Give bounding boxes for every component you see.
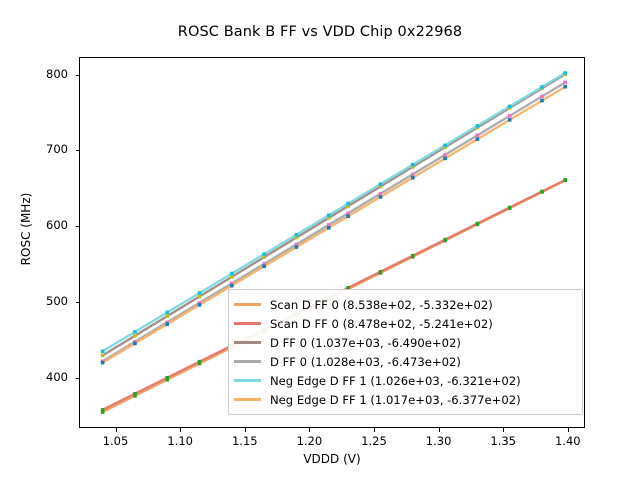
y-axis-label: ROSC (MHz) (19, 129, 33, 329)
data-point (101, 408, 105, 412)
x-tick-mark (116, 428, 117, 432)
x-tick-mark (309, 428, 310, 432)
data-point (230, 272, 234, 276)
legend-color-swatch (234, 360, 261, 362)
data-point (443, 238, 447, 242)
data-point (443, 143, 447, 147)
legend-item[interactable]: Scan D FF 0 (8.538e+02, -5.332e+02) (234, 295, 576, 314)
y-tick-label: 500 (0, 294, 68, 308)
data-point (443, 157, 447, 161)
data-point (508, 206, 512, 210)
data-point (411, 163, 415, 167)
data-point (443, 153, 447, 157)
data-point (508, 114, 512, 118)
data-point (262, 264, 266, 268)
data-point (101, 361, 105, 365)
data-point (476, 134, 480, 138)
data-point (411, 176, 415, 180)
legend-item[interactable]: Neg Edge D FF 1 (1.026e+03, -6.321e+02) (234, 371, 576, 390)
y-tick-label: 700 (0, 142, 68, 156)
data-point (508, 118, 512, 122)
legend-label: D FF 0 (1.037e+03, -6.490e+02) (270, 336, 461, 350)
legend-item[interactable]: Scan D FF 0 (8.478e+02, -5.241e+02) (234, 314, 576, 333)
x-tick-label: 1.35 (473, 434, 533, 448)
data-point (295, 245, 299, 249)
x-tick-mark (503, 428, 504, 432)
legend-item[interactable]: D FF 0 (1.028e+03, -6.473e+02) (234, 352, 576, 371)
data-point (165, 376, 169, 380)
data-point (101, 350, 105, 354)
x-tick-mark (568, 428, 569, 432)
data-point (133, 334, 137, 338)
legend-label: Scan D FF 0 (8.538e+02, -5.332e+02) (270, 298, 493, 312)
data-point (327, 213, 331, 217)
y-tick-mark (76, 226, 80, 227)
data-point (198, 360, 202, 364)
data-point (379, 270, 383, 274)
data-point (346, 202, 350, 206)
data-point (165, 322, 169, 326)
data-point (563, 71, 567, 75)
chart-figure: ROSC Bank B FF vs VDD Chip 0x22968 1.051… (0, 0, 640, 480)
data-point (101, 354, 105, 358)
data-point (198, 291, 202, 295)
legend-label: Neg Edge D FF 1 (1.026e+03, -6.321e+02) (270, 374, 521, 388)
data-point (346, 214, 350, 218)
x-tick-mark (180, 428, 181, 432)
y-tick-mark (76, 302, 80, 303)
data-point (540, 85, 544, 89)
chart-legend: Scan D FF 0 (8.538e+02, -5.332e+02)Scan … (228, 289, 583, 415)
x-tick-mark (245, 428, 246, 432)
data-point (165, 314, 169, 318)
legend-label: D FF 0 (1.028e+03, -6.473e+02) (270, 355, 461, 369)
x-tick-label: 1.05 (86, 434, 146, 448)
data-point (563, 178, 567, 182)
x-tick-label: 1.25 (344, 434, 404, 448)
x-tick-label: 1.40 (538, 434, 598, 448)
data-point (476, 137, 480, 141)
legend-color-swatch (234, 303, 261, 305)
legend-color-swatch (234, 341, 261, 343)
x-tick-label: 1.10 (150, 434, 210, 448)
data-point (540, 99, 544, 103)
legend-item[interactable]: D FF 0 (1.037e+03, -6.490e+02) (234, 333, 576, 352)
y-tick-label: 800 (0, 67, 68, 81)
legend-color-swatch (234, 398, 261, 400)
y-tick-label: 400 (0, 370, 68, 384)
chart-title: ROSC Bank B FF vs VDD Chip 0x22968 (0, 24, 640, 40)
data-point (563, 81, 567, 85)
data-point (379, 182, 383, 186)
data-point (165, 311, 169, 315)
data-point (230, 284, 234, 288)
data-point (295, 233, 299, 237)
data-point (133, 392, 137, 396)
legend-color-swatch (234, 322, 261, 324)
legend-label: Scan D FF 0 (8.478e+02, -5.241e+02) (270, 317, 493, 331)
data-point (411, 254, 415, 258)
legend-label: Neg Edge D FF 1 (1.017e+03, -6.377e+02) (270, 393, 521, 407)
data-point (563, 85, 567, 89)
data-point (476, 222, 480, 226)
data-point (540, 190, 544, 194)
data-point (262, 252, 266, 256)
x-tick-label: 1.30 (409, 434, 469, 448)
x-tick-label: 1.15 (215, 434, 275, 448)
y-tick-mark (76, 378, 80, 379)
data-point (133, 342, 137, 346)
x-tick-mark (439, 428, 440, 432)
data-point (198, 295, 202, 299)
data-point (198, 303, 202, 307)
y-tick-mark (76, 150, 80, 151)
x-axis-label: VDDD (V) (79, 452, 585, 466)
data-point (476, 124, 480, 128)
legend-color-swatch (234, 379, 261, 381)
x-tick-mark (374, 428, 375, 432)
data-point (379, 195, 383, 199)
legend-item[interactable]: Neg Edge D FF 1 (1.017e+03, -6.377e+02) (234, 390, 576, 409)
data-point (327, 226, 331, 230)
data-point (540, 95, 544, 99)
x-tick-label: 1.20 (279, 434, 339, 448)
data-point (133, 330, 137, 334)
y-tick-label: 600 (0, 218, 68, 232)
data-point (508, 105, 512, 109)
y-tick-mark (76, 75, 80, 76)
